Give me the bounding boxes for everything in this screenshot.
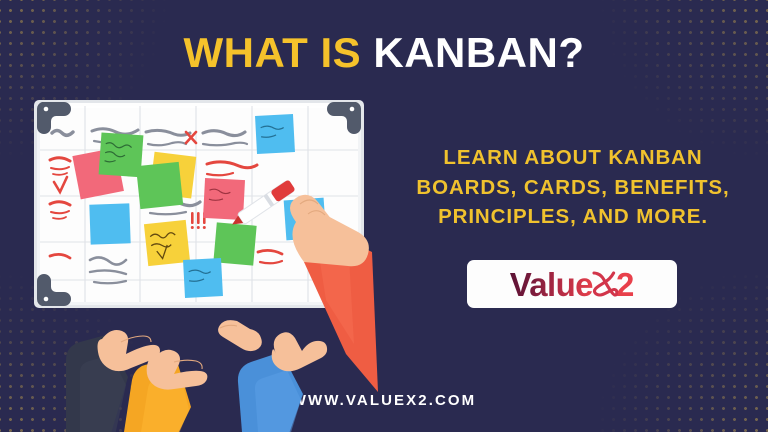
subtitle-line-2: BOARDS, CARDS, BENEFITS,: [398, 173, 748, 203]
page-title-gold-part: WHAT IS: [183, 29, 373, 76]
stylized-x-ribbon-icon: [591, 269, 618, 299]
brand-logo-inner: Value 2: [510, 264, 635, 304]
brand-logo[interactable]: Value 2: [467, 260, 677, 308]
kanban-whiteboard-illustration: [28, 92, 393, 432]
brand-logo-wordmark: Value: [510, 268, 593, 301]
hand-blue-pointing: [218, 320, 327, 432]
page-title: WHAT IS KANBAN?: [0, 32, 768, 74]
poster-canvas: WHAT IS KANBAN? LEARN ABOUT KANBAN BOARD…: [0, 0, 768, 432]
page-title-white-part: KANBAN?: [373, 29, 584, 76]
brand-logo-suffix: 2: [616, 268, 634, 301]
subtitle-line-1: LEARN ABOUT KANBAN: [398, 143, 748, 173]
subtitle: LEARN ABOUT KANBAN BOARDS, CARDS, BENEFI…: [398, 143, 748, 232]
subtitle-line-3: PRINCIPLES, AND MORE.: [398, 202, 748, 232]
